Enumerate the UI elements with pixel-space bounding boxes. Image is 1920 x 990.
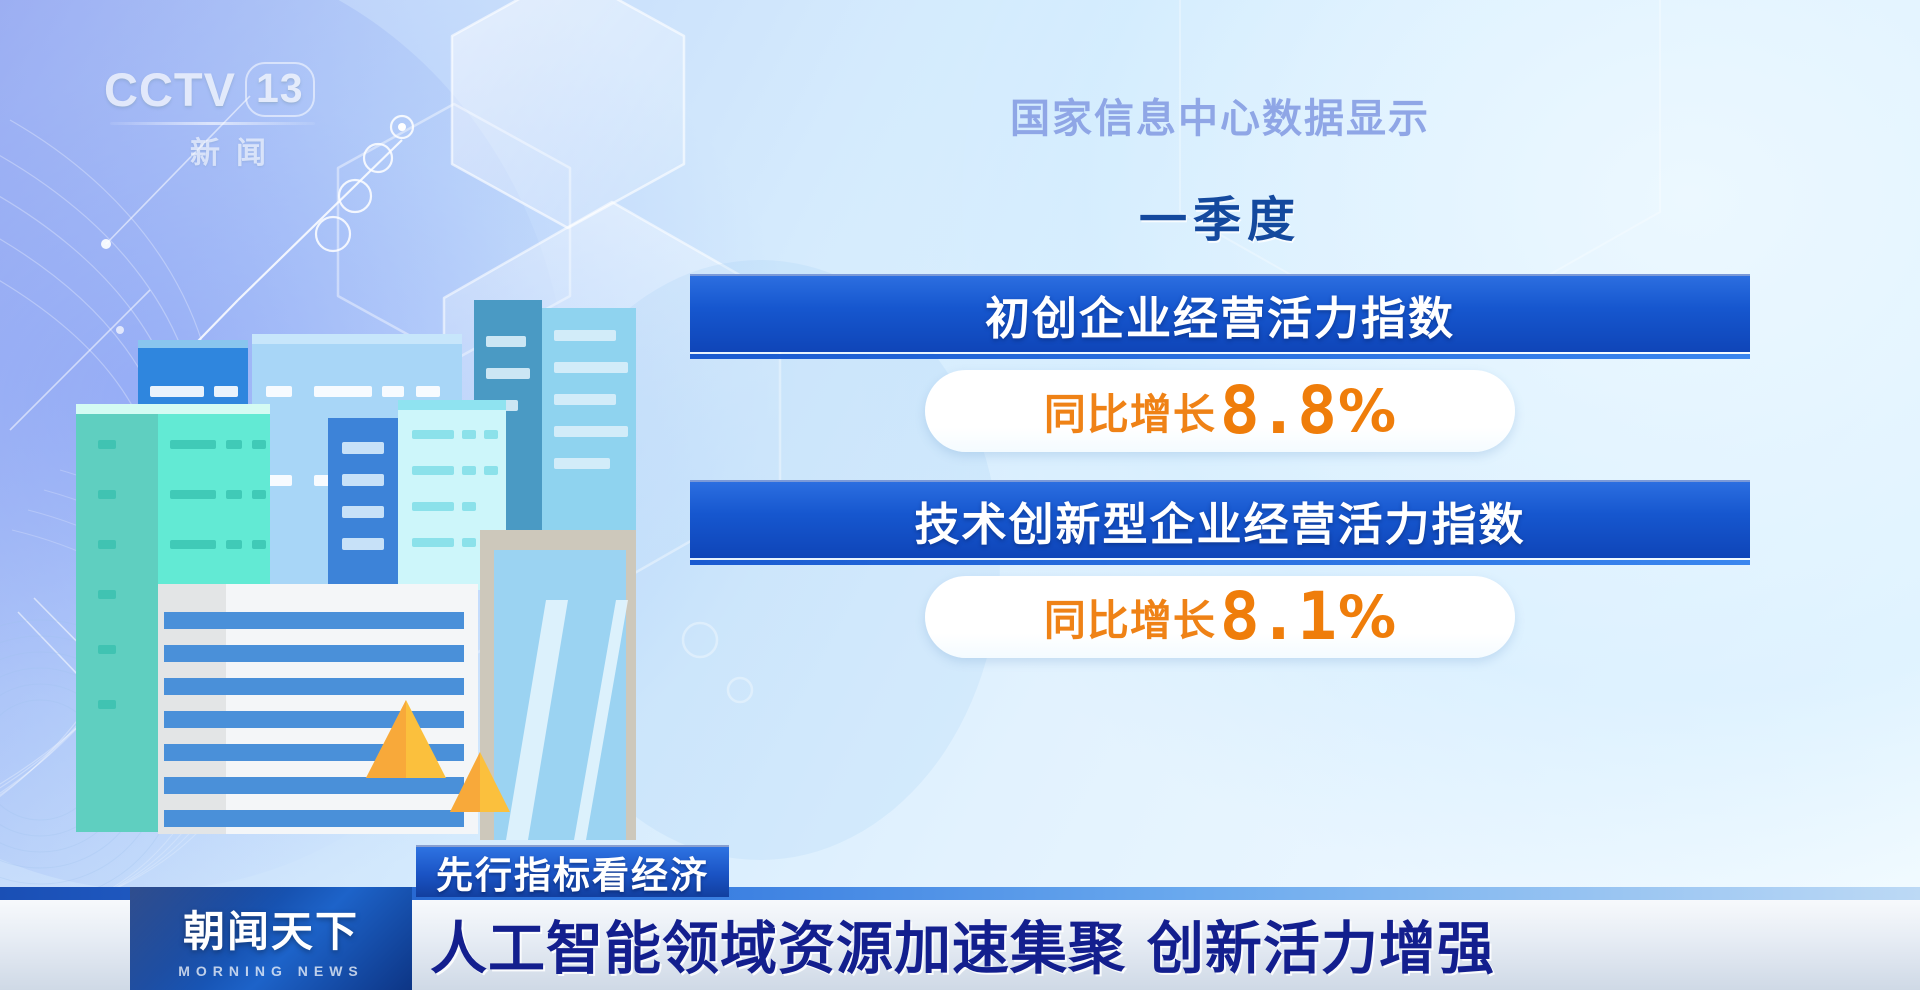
metric-banner-startup: 初创企业经营活力指数 bbox=[690, 274, 1750, 352]
channel-subtitle: 新闻 bbox=[104, 128, 354, 172]
channel-number: 13 bbox=[245, 62, 315, 117]
topic-tag-label: 先行指标看经济 bbox=[436, 845, 709, 899]
news-headline: 人工智能领域资源加速集聚 创新活力增强 bbox=[430, 906, 1910, 982]
growth-unit-startup: % bbox=[1338, 382, 1396, 440]
program-name-zh: 朝闻天下 bbox=[183, 898, 359, 959]
data-panel: 国家信息中心数据显示 一季度 初创企业经营活力指数 同比增长 8.8 % 技术创… bbox=[690, 86, 1750, 658]
growth-value-techinnovation: 8.1 bbox=[1220, 584, 1336, 650]
metric-block-startup: 初创企业经营活力指数 同比增长 8.8 % bbox=[690, 274, 1750, 452]
growth-unit-techinnovation: % bbox=[1338, 588, 1396, 646]
channel-logo-underline bbox=[110, 122, 315, 125]
program-logo: 朝闻天下 MORNING NEWS bbox=[130, 887, 412, 990]
channel-logo: CCTV 13 新闻 bbox=[104, 62, 354, 172]
topic-tag: 先行指标看经济 bbox=[416, 845, 729, 897]
metric-pill-startup: 同比增长 8.8 % bbox=[925, 370, 1515, 452]
metric-banner-label-techinnovation: 技术创新型企业经营活力指数 bbox=[914, 488, 1525, 553]
channel-logo-text: CCTV bbox=[104, 62, 236, 117]
broadcast-frame: CCTV 13 新闻 bbox=[0, 0, 1920, 990]
metric-banner-techinnovation: 技术创新型企业经营活力指数 bbox=[690, 480, 1750, 558]
cityscape-illustration bbox=[76, 300, 636, 860]
metric-block-techinnovation: 技术创新型企业经营活力指数 同比增长 8.1 % bbox=[690, 480, 1750, 658]
news-headline-text: 人工智能领域资源加速集聚 创新活力增强 bbox=[430, 903, 1495, 985]
growth-value-startup: 8.8 bbox=[1220, 378, 1336, 444]
program-name-en: MORNING NEWS bbox=[178, 963, 364, 979]
channel-logo-row: CCTV 13 bbox=[104, 62, 354, 117]
growth-label-techinnovation: 同比增长 bbox=[1044, 587, 1216, 648]
period-label: 一季度 bbox=[690, 180, 1750, 250]
growth-label-startup: 同比增长 bbox=[1044, 381, 1216, 442]
metric-banner-label-startup: 初创企业经营活力指数 bbox=[985, 282, 1455, 347]
data-source-label: 国家信息中心数据显示 bbox=[690, 86, 1750, 144]
metric-pill-techinnovation: 同比增长 8.1 % bbox=[925, 576, 1515, 658]
